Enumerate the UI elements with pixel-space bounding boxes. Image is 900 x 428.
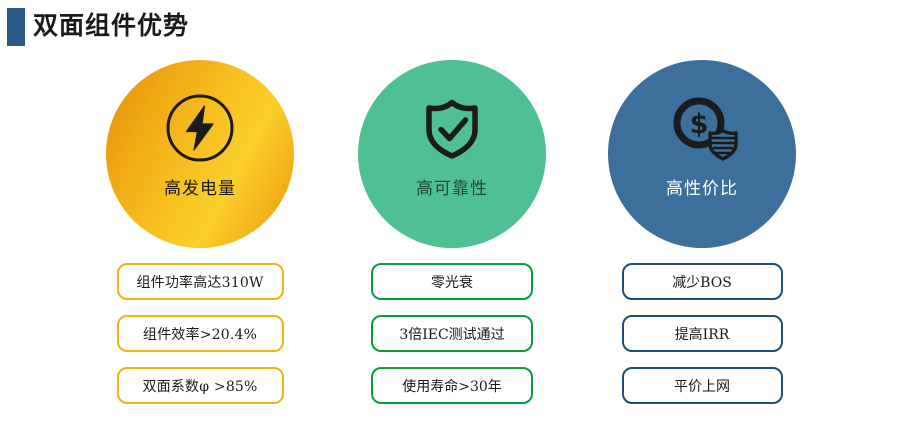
feature-pill[interactable]: 减少BOS — [622, 263, 783, 300]
lightning-bolt-icon — [164, 92, 236, 164]
svg-text:$: $ — [690, 109, 709, 140]
feature-pill-text: 提高IRR — [675, 324, 730, 344]
feature-pill-text: 使用寿命>30年 — [402, 376, 502, 396]
feature-pill-text: 减少BOS — [672, 272, 732, 292]
feature-pill-text: 组件功率高达310W — [136, 272, 263, 292]
feature-pill-list: 零光衰 3倍IEC测试通过 使用寿命>30年 — [337, 263, 567, 404]
feature-circle-label: 高性价比 — [666, 174, 738, 199]
feature-pill[interactable]: 零光衰 — [371, 263, 533, 300]
feature-pill[interactable]: 双面系数φ >85% — [117, 367, 284, 404]
page-title: 双面组件优势 — [33, 6, 189, 46]
feature-circle-label: 高发电量 — [164, 174, 236, 199]
feature-pill-text: 零光衰 — [431, 272, 473, 292]
feature-pill[interactable]: 组件效率>20.4% — [117, 315, 284, 352]
feature-column-high-power-generation: 高发电量 组件功率高达310W 组件效率>20.4% 双面系数φ >85% — [85, 56, 315, 428]
feature-circle-label: 高可靠性 — [416, 174, 488, 199]
feature-pill[interactable]: 3倍IEC测试通过 — [371, 315, 533, 352]
feature-circle-high-reliability[interactable]: 高可靠性 — [358, 60, 546, 248]
feature-columns: 高发电量 组件功率高达310W 组件效率>20.4% 双面系数φ >85% 高可… — [0, 56, 900, 428]
title-accent-bar — [7, 8, 25, 46]
feature-pill-list: 组件功率高达310W 组件效率>20.4% 双面系数φ >85% — [85, 263, 315, 404]
feature-pill[interactable]: 平价上网 — [622, 367, 783, 404]
coin-shield-icon: $ — [666, 92, 738, 164]
feature-pill-text: 3倍IEC测试通过 — [399, 324, 504, 344]
feature-column-high-reliability: 高可靠性 零光衰 3倍IEC测试通过 使用寿命>30年 — [337, 56, 567, 428]
feature-pill-text: 双面系数φ >85% — [142, 376, 257, 396]
feature-pill[interactable]: 组件功率高达310W — [117, 263, 284, 300]
feature-pill-text: 平价上网 — [674, 376, 730, 396]
feature-column-high-cost-performance: $ 高性价比 减少BOS 提高IRR 平价上网 — [587, 56, 817, 428]
shield-check-icon — [416, 92, 488, 164]
feature-pill-text: 组件效率>20.4% — [143, 324, 257, 344]
page-header: 双面组件优势 — [0, 0, 900, 56]
feature-circle-high-power-generation[interactable]: 高发电量 — [106, 60, 294, 248]
feature-pill[interactable]: 提高IRR — [622, 315, 783, 352]
feature-circle-high-cost-performance[interactable]: $ 高性价比 — [608, 60, 796, 248]
feature-pill[interactable]: 使用寿命>30年 — [371, 367, 533, 404]
feature-pill-list: 减少BOS 提高IRR 平价上网 — [587, 263, 817, 404]
